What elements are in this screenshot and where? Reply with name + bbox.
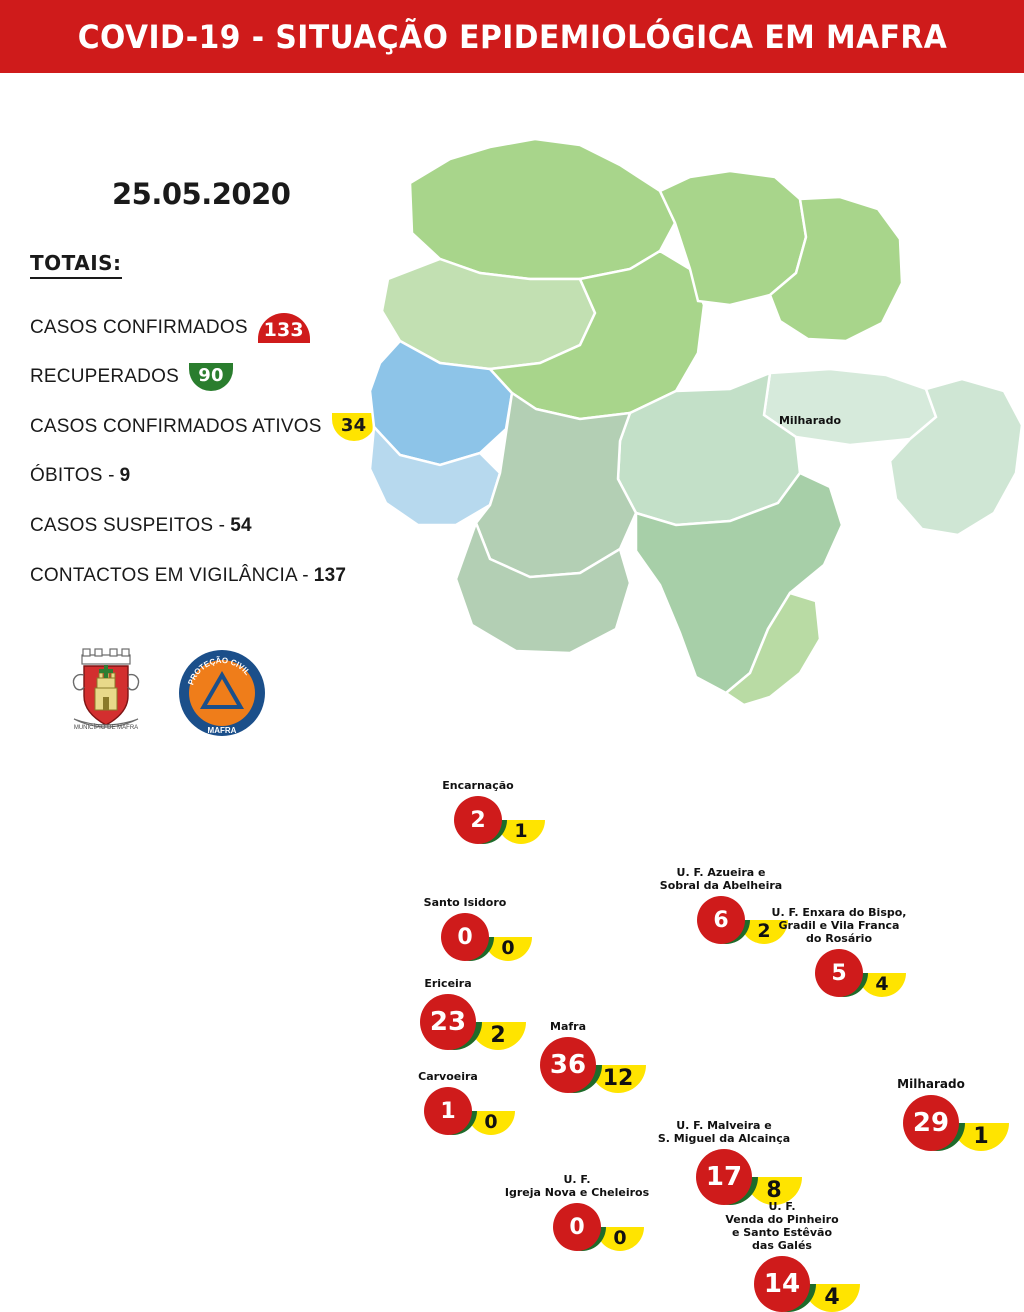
municipio-de-mafra-logo: MUNICÍPIO DE MAFRA <box>60 645 152 741</box>
stat-label: ÓBITOS - <box>30 465 115 487</box>
marker-label-line: U. F. Malveira e <box>658 1119 790 1132</box>
confirmed-count: 36 <box>540 1037 596 1093</box>
stat-label: CONTACTOS EM VIGILÂNCIA - <box>30 565 309 587</box>
confirmed-count: 17 <box>696 1149 752 1205</box>
svg-text:MUNICÍPIO DE MAFRA: MUNICÍPIO DE MAFRA <box>74 724 138 731</box>
stat-contactos-em-vigilancia: CONTACTOS EM VIGILÂNCIA - 137 <box>30 565 346 587</box>
marker-label-line: S. Miguel da Alcainça <box>658 1132 790 1145</box>
marker-label-line: Santo Isidoro <box>424 896 507 909</box>
marker-label-line: Igreja Nova e Cheleiros <box>505 1186 649 1199</box>
protecao-civil-mafra-logo: MAFRA PROTEÇÃO CIVIL <box>176 645 268 741</box>
stat-label: CASOS CONFIRMADOS ATIVOS <box>30 416 322 438</box>
stat-casos-confirmados: CASOS CONFIRMADOS 133 <box>30 313 310 343</box>
stat-obitos: ÓBITOS - 9 <box>30 465 130 487</box>
confirmed-count: 1 <box>424 1087 472 1135</box>
page-title: COVID-19 - SITUAÇÃO EPIDEMIOLÓGICA EM MA… <box>77 18 947 56</box>
stat-label: CASOS SUSPEITOS - <box>30 515 225 537</box>
stat-label: RECUPERADOS <box>30 366 179 388</box>
stat-value: 54 <box>230 515 252 537</box>
marker-label-line: do Rosário <box>772 932 907 945</box>
marker-label-line: Ericeira <box>424 977 471 990</box>
stat-value-badge: 90 <box>189 363 233 391</box>
marker-label-line: Milharado <box>897 1078 965 1091</box>
map-label-milharado-plain: Milharado <box>779 414 841 427</box>
marker-label-line: U. F. <box>505 1173 649 1186</box>
marker-label-line: Gradil e Vila Franca <box>772 919 907 932</box>
marker-label-line: Mafra <box>550 1020 586 1033</box>
marker-label-line: Venda do Pinheiro <box>725 1213 838 1226</box>
report-date: 25.05.2020 <box>112 177 290 211</box>
stat-recuperados: RECUPERADOS 90 <box>30 363 233 391</box>
summary-panel: 25.05.2020 TOTAIS: CASOS CONFIRMADOS 133… <box>0 73 370 724</box>
page-header: COVID-19 - SITUAÇÃO EPIDEMIOLÓGICA EM MA… <box>0 0 1024 73</box>
mafra-municipality-map: Milharado Encarnação 2 1 1 Santo Isidoro… <box>330 73 1024 724</box>
confirmed-count: 23 <box>420 994 476 1050</box>
confirmed-count: 0 <box>441 913 489 961</box>
confirmed-count: 14 <box>754 1256 810 1312</box>
svg-text:MAFRA: MAFRA <box>208 726 237 735</box>
marker-label-line: das Galés <box>725 1239 838 1252</box>
marker-label-line: e Santo Estêvão <box>725 1226 838 1239</box>
marker-label-line: U. F. Enxara do Bispo, <box>772 906 907 919</box>
marker-label-line: U. F. Azueira e <box>660 866 782 879</box>
confirmed-count: 0 <box>553 1203 601 1251</box>
marker-label-line: Carvoeira <box>418 1070 478 1083</box>
stat-label: CASOS CONFIRMADOS <box>30 317 248 339</box>
logo-row: MUNICÍPIO DE MAFRA MAFRA PROTEÇÃO CIVIL <box>60 645 268 741</box>
stat-value: 9 <box>120 465 131 487</box>
confirmed-count: 6 <box>697 896 745 944</box>
marker-label-line: Sobral da Abelheira <box>660 879 782 892</box>
map-regions <box>330 73 1024 724</box>
marker-label-line: Encarnação <box>442 779 513 792</box>
marker-label-line: U. F. <box>725 1200 838 1213</box>
region-encarnacao <box>410 139 675 279</box>
confirmed-count: 5 <box>815 949 863 997</box>
totals-heading: TOTAIS: <box>30 251 122 279</box>
confirmed-count: 2 <box>454 796 502 844</box>
stat-value-badge: 133 <box>258 313 310 343</box>
confirmed-count: 29 <box>903 1095 959 1151</box>
stat-casos-confirmados-ativos: CASOS CONFIRMADOS ATIVOS 34 <box>30 413 376 441</box>
stat-casos-suspeitos: CASOS SUSPEITOS - 54 <box>30 515 252 537</box>
